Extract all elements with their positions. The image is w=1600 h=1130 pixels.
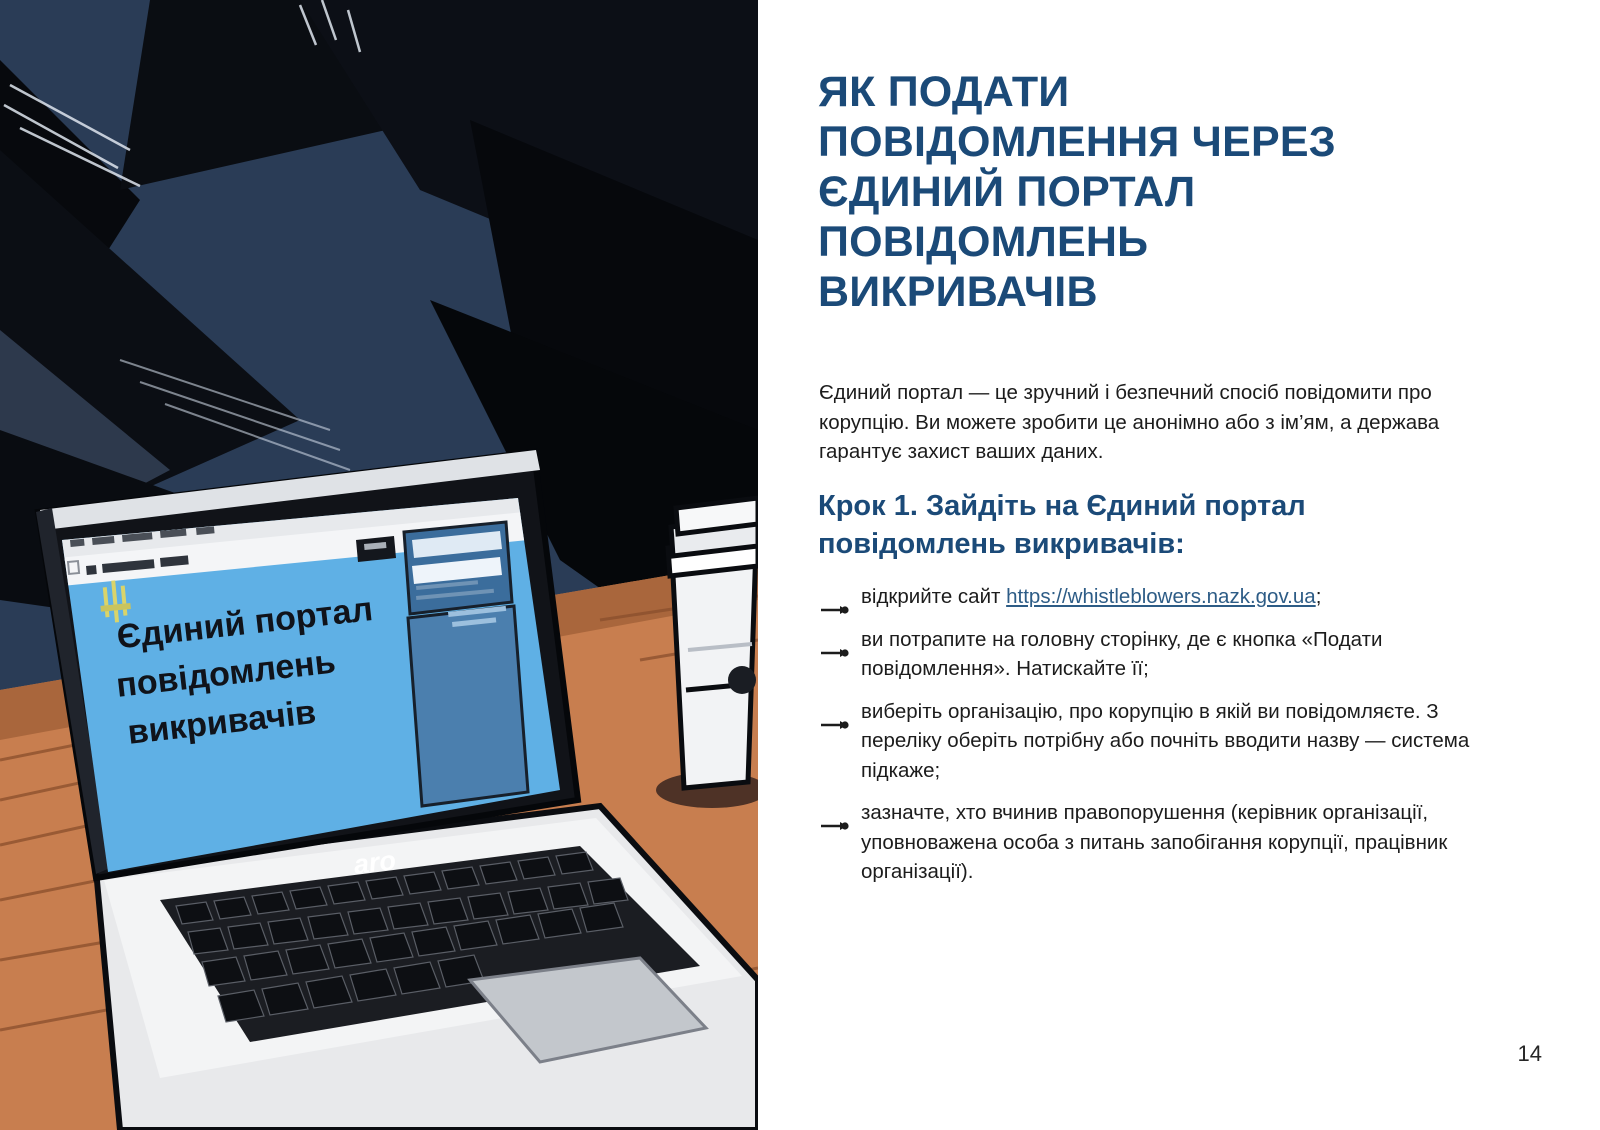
page-title: ЯК ПОДАТИ ПОВІДОМЛЕННЯ ЧЕРЕЗ ЄДИНИЙ ПОРТ…: [818, 68, 1518, 317]
page-title-line: ПОВІДОМЛЕНЬ: [818, 218, 1518, 268]
bullet-text-prefix: відкрийте сайт: [861, 585, 1006, 608]
step-1-bullet-list: відкрийте сайт https://whistleblowers.na…: [818, 582, 1518, 887]
arrow-bullet-icon: [821, 637, 851, 647]
whistleblowers-portal-link[interactable]: https://whistleblowers.nazk.gov.ua: [1006, 585, 1316, 608]
laptop-desk-illustration: aro: [0, 0, 758, 1130]
list-item: зазначте, хто вчинив правопорушення (кер…: [818, 798, 1518, 887]
step-1-heading: Крок 1. Зайдіть на Єдиний портал повідом…: [818, 487, 1498, 564]
laptop-screen: Єдиний портал повідомлень викривачів: [36, 450, 578, 878]
content-panel: ЯК ПОДАТИ ПОВІДОМЛЕННЯ ЧЕРЕЗ ЄДИНИЙ ПОРТ…: [758, 0, 1600, 1130]
page-title-line: ПОВІДОМЛЕННЯ ЧЕРЕЗ: [818, 118, 1518, 168]
page-title-line: ВИКРИВАЧІВ: [818, 268, 1518, 318]
list-item: виберіть організацію, про корупцію в які…: [818, 697, 1518, 786]
illustration-panel: aro: [0, 0, 758, 1130]
bullet-text-suffix: ;: [1316, 585, 1322, 608]
page-title-line: ЯК ПОДАТИ: [818, 68, 1518, 118]
list-item: ви потрапите на головну сторінку, де є к…: [818, 625, 1518, 684]
arrow-bullet-icon: [821, 810, 851, 820]
infographic-page: aro: [0, 0, 1600, 1130]
laptop-brand-label: aro: [352, 845, 397, 880]
page-number: 14: [1518, 1041, 1542, 1067]
arrow-bullet-icon: [821, 594, 851, 604]
bullet-text: ви потрапите на головну сторінку, де є к…: [861, 628, 1382, 681]
bullet-text: виберіть організацію, про корупцію в які…: [861, 700, 1469, 782]
list-item: відкрийте сайт https://whistleblowers.na…: [818, 582, 1518, 612]
intro-paragraph: Єдиний портал — це зручний і безпечний с…: [819, 378, 1479, 467]
screen-login-button: [356, 536, 396, 562]
arrow-bullet-icon: [821, 709, 851, 719]
bullet-text: зазначте, хто вчинив правопорушення (кер…: [861, 801, 1447, 883]
page-title-line: ЄДИНИЙ ПОРТАЛ: [818, 168, 1518, 218]
screen-content-panel: [408, 606, 528, 806]
